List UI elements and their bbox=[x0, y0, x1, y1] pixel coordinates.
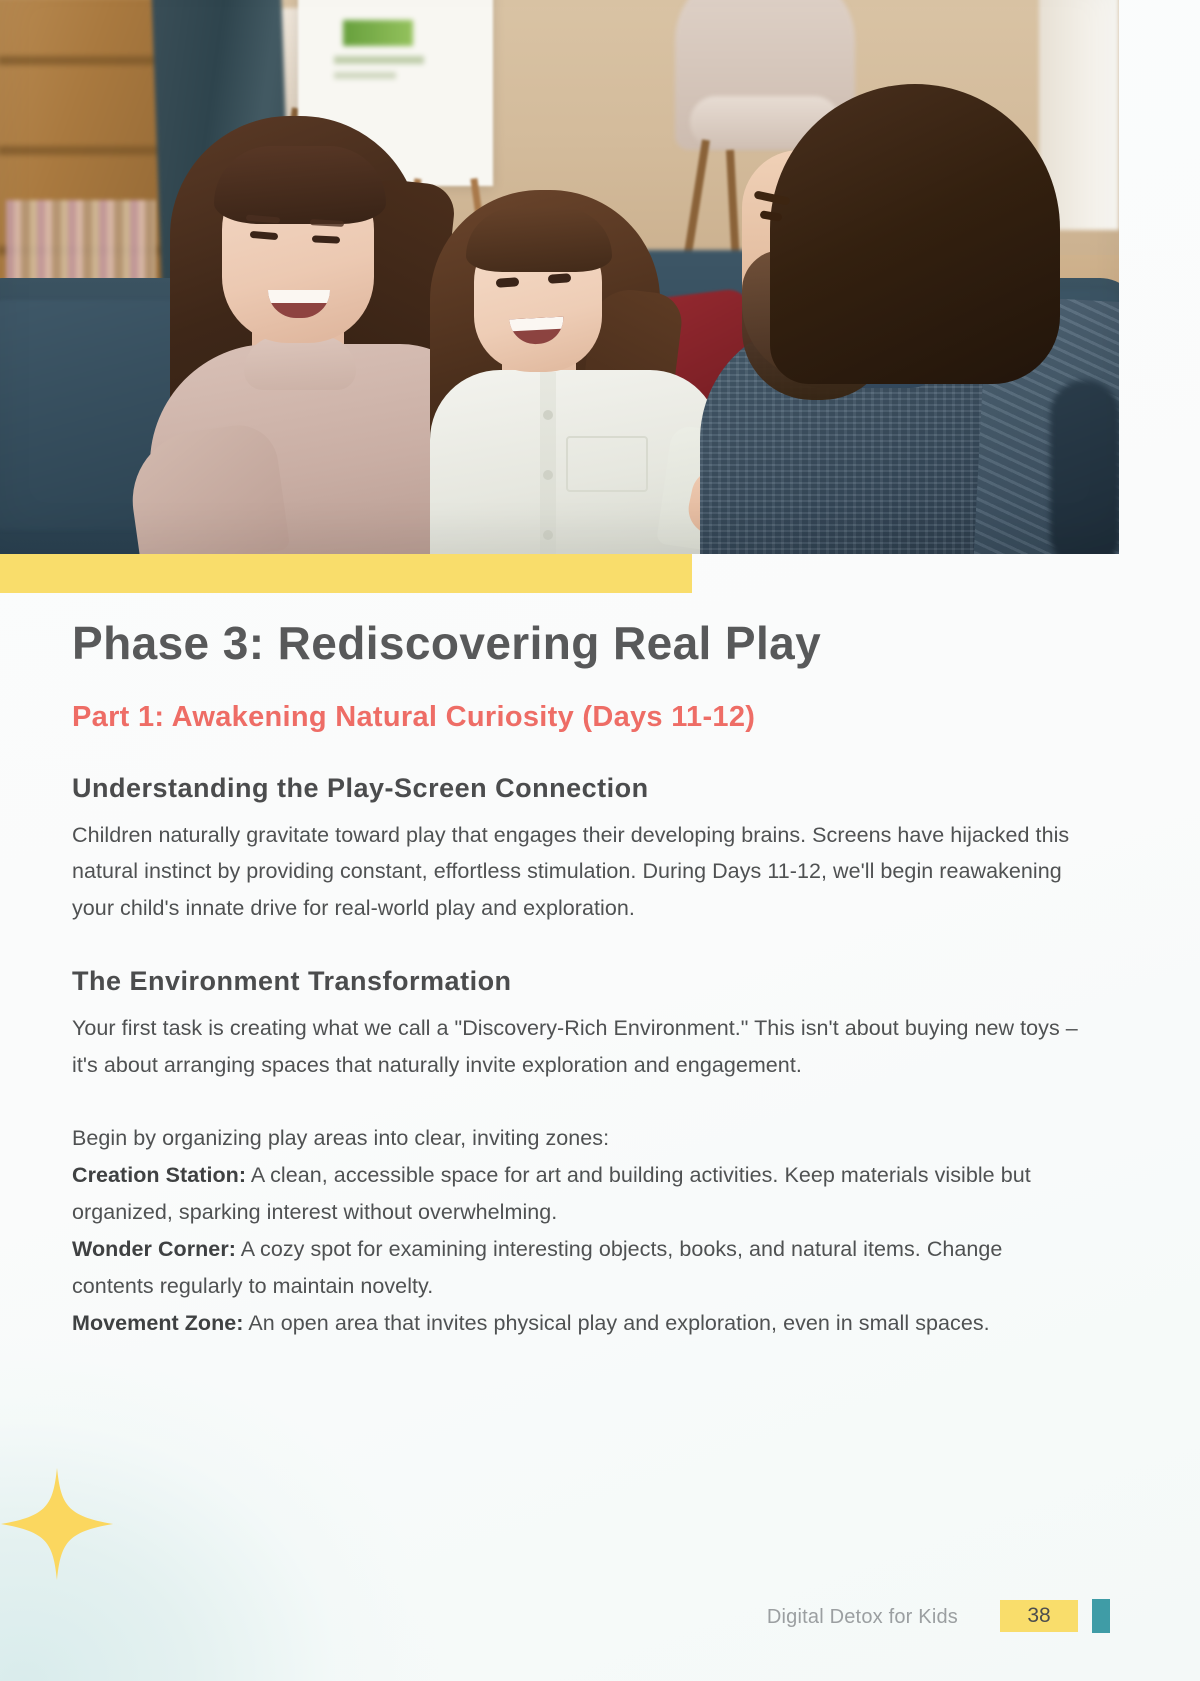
list-item: Movement Zone: An open area that invites… bbox=[72, 1305, 1082, 1342]
section-heading-play-screen: Understanding the Play-Screen Connection bbox=[72, 773, 1082, 804]
list-item: Wonder Corner: A cozy spot for examining… bbox=[72, 1231, 1082, 1305]
section-heading-environment: The Environment Transformation bbox=[72, 966, 1082, 997]
section-paragraph-play-screen: Children naturally gravitate toward play… bbox=[72, 817, 1082, 928]
page-number: 38 bbox=[1027, 1604, 1050, 1628]
page-footer: Digital Detox for Kids 38 bbox=[0, 1600, 1200, 1646]
zone-text-movement-zone: An open area that invites physical play … bbox=[244, 1311, 990, 1335]
page-canvas: Phase 3: Rediscovering Real Play Part 1:… bbox=[0, 0, 1200, 1681]
part-title: Part 1: Awakening Natural Curiosity (Day… bbox=[72, 701, 1082, 734]
teal-accent-tab bbox=[1092, 1599, 1110, 1633]
footer-book-title: Digital Detox for Kids bbox=[767, 1606, 958, 1629]
section-paragraph-environment: Your first task is creating what we call… bbox=[72, 1010, 1082, 1084]
zone-label-movement-zone: Movement Zone: bbox=[72, 1311, 244, 1335]
zone-label-creation-station: Creation Station: bbox=[72, 1163, 246, 1187]
page-title: Phase 3: Rediscovering Real Play bbox=[72, 618, 1082, 670]
zone-list: Begin by organizing play areas into clea… bbox=[72, 1120, 1082, 1342]
page-number-badge: 38 bbox=[1000, 1600, 1078, 1632]
page-content: Phase 3: Rediscovering Real Play Part 1:… bbox=[72, 593, 1082, 1342]
sparkle-star-icon bbox=[0, 1466, 115, 1582]
hero-illustration bbox=[0, 0, 1119, 554]
zone-label-wonder-corner: Wonder Corner: bbox=[72, 1237, 236, 1261]
yellow-accent-bar bbox=[0, 554, 692, 593]
zone-list-intro: Begin by organizing play areas into clea… bbox=[72, 1120, 1082, 1157]
list-item: Creation Station: A clean, accessible sp… bbox=[72, 1157, 1082, 1231]
hero-photo bbox=[0, 0, 1119, 554]
